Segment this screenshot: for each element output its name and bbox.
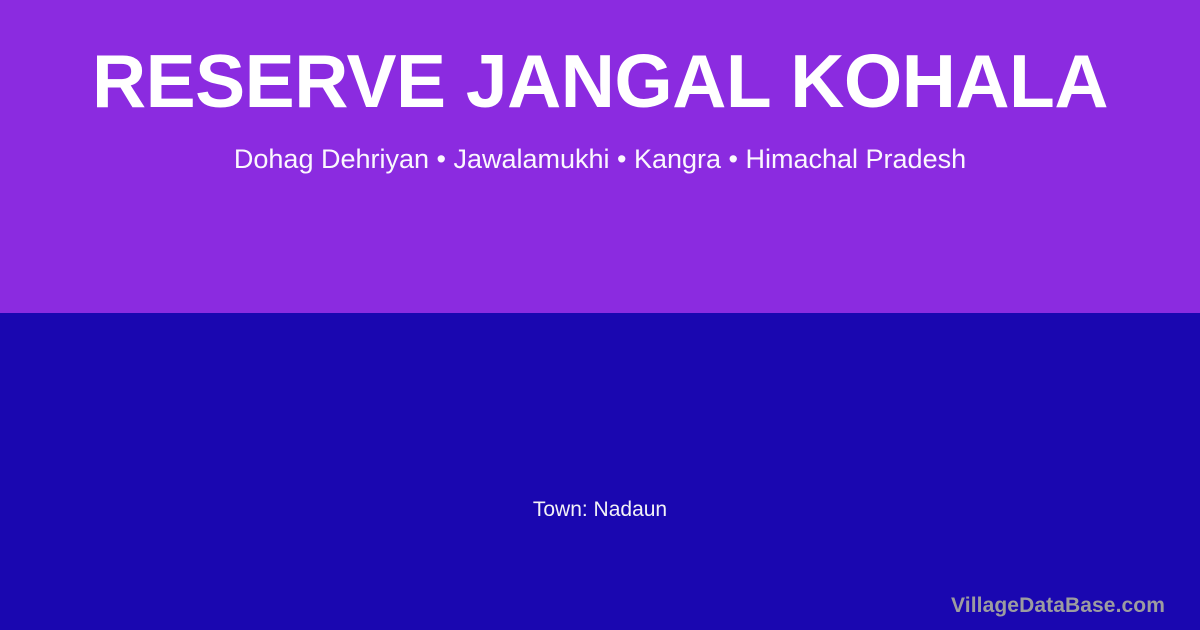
map-panel: Town: Nadaun VillageDataBase.com <box>0 313 1200 630</box>
header-banner: RESERVE JANGAL KOHALA Dohag Dehriyan • J… <box>0 0 1200 313</box>
site-watermark: VillageDataBase.com <box>951 595 1165 616</box>
page-title: RESERVE JANGAL KOHALA <box>92 44 1108 119</box>
nearest-town-label: Town: Nadaun <box>0 499 1200 520</box>
village-info-card: RESERVE JANGAL KOHALA Dohag Dehriyan • J… <box>0 0 1200 630</box>
location-breadcrumb: Dohag Dehriyan • Jawalamukhi • Kangra • … <box>234 146 966 173</box>
